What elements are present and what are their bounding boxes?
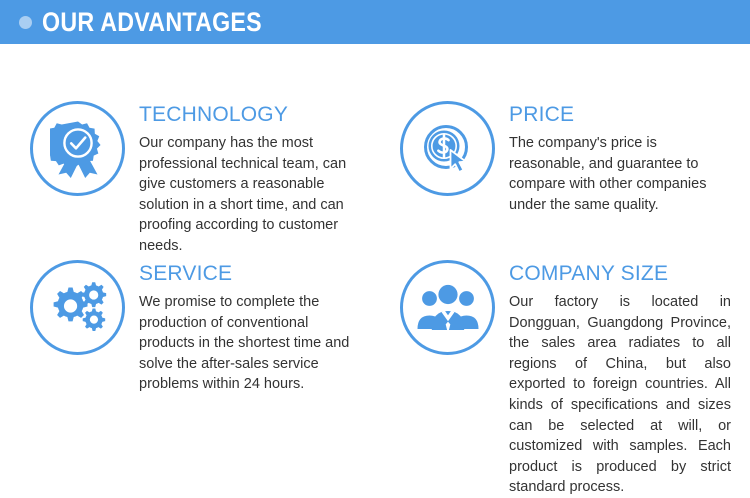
advantage-card-body: COMPANY SIZE Our factory is located in D… — [509, 260, 740, 498]
page-title: OUR ADVANTAGES — [42, 9, 262, 36]
advantage-description: Our factory is located in Dongguan, Guan… — [509, 292, 731, 498]
advantage-card-body: PRICE The company's price is reasonable,… — [509, 101, 740, 215]
advantage-card-company-size: COMPANY SIZE Our factory is located in D… — [400, 260, 740, 498]
advantage-heading: TECHNOLOGY — [139, 103, 375, 126]
award-badge-check-icon — [30, 101, 125, 196]
advantages-grid: TECHNOLOGY Our company has the most prof… — [0, 44, 750, 467]
section-header-bar: OUR ADVANTAGES — [0, 0, 750, 44]
advantage-heading: SERVICE — [139, 262, 375, 285]
gears-icon — [30, 260, 125, 355]
advantage-heading: PRICE — [509, 103, 740, 126]
advantage-card-price: PRICE The company's price is reasonable,… — [400, 101, 740, 215]
people-group-icon — [400, 260, 495, 355]
advantage-card-body: TECHNOLOGY Our company has the most prof… — [139, 101, 375, 257]
advantage-card-service: SERVICE We promise to complete the produ… — [30, 260, 375, 395]
dollar-coin-cursor-icon — [400, 101, 495, 196]
advantage-card-technology: TECHNOLOGY Our company has the most prof… — [30, 101, 375, 257]
advantage-description: The company's price is reasonable, and g… — [509, 133, 721, 215]
advantage-description: We promise to complete the production of… — [139, 292, 357, 395]
advantage-heading: COMPANY SIZE — [509, 262, 740, 285]
advantage-card-body: SERVICE We promise to complete the produ… — [139, 260, 375, 395]
advantage-description: Our company has the most professional te… — [139, 133, 351, 256]
dot-icon — [19, 16, 32, 29]
